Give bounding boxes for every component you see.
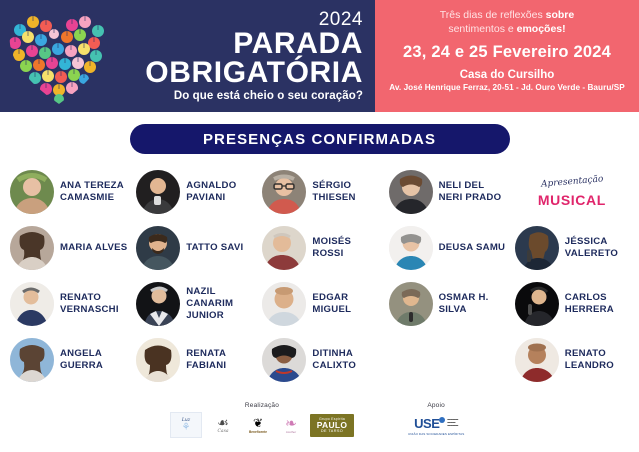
- poster-header: 2024 PARADA OBRIGATÓRIA Do que está chei…: [0, 0, 639, 112]
- promo-line1-bold: sobre: [546, 9, 575, 21]
- speaker-name: DITINHA CALIXTO: [312, 348, 382, 371]
- beneficente-logo-text: Beneficente: [249, 430, 267, 434]
- avatar: [10, 338, 54, 382]
- speaker-name: DEUSA SAMU: [439, 242, 506, 254]
- speaker-card[interactable]: ANA TEREZA CAMASMIE: [4, 164, 130, 220]
- speaker-name: EDGAR MIGUEL: [312, 292, 382, 315]
- avatar: [262, 338, 306, 382]
- casa-joao-logo-text: Casa: [217, 429, 228, 434]
- title-line-2: OBRIGATÓRIA: [118, 59, 363, 88]
- beneficente-logo: ❦ Beneficente: [244, 412, 272, 438]
- header-left-navy: 2024 PARADA OBRIGATÓRIA Do que está chei…: [0, 0, 375, 112]
- speaker-card[interactable]: NAZIL CANARIM JUNIOR: [130, 276, 256, 332]
- avatar: [515, 226, 559, 270]
- use-line-3: ▬▬▬▬: [447, 425, 458, 428]
- casa-joao-icon: ☙: [217, 416, 229, 429]
- title-block: 2024 PARADA OBRIGATÓRIA Do que está chei…: [118, 10, 375, 102]
- realizacao-logos: Luz ⚘ ☙ Casa ❦ Beneficente: [170, 412, 354, 438]
- musical-label: MUSICAL: [538, 192, 606, 208]
- avatar: [10, 170, 54, 214]
- avatar: [262, 170, 306, 214]
- speaker-name: RENATA FABIANI: [186, 348, 256, 371]
- musical-script-label: Apresentação: [540, 174, 603, 189]
- event-dates: 23, 24 e 25 Fevereiro 2024: [403, 43, 611, 62]
- speaker-name: RENATO VERNASCHI: [60, 292, 130, 315]
- casa-joao-logo: ☙ Casa: [208, 412, 238, 438]
- apoio-label: Apoio: [408, 402, 464, 409]
- speaker-card[interactable]: EDGAR MIGUEL: [256, 276, 382, 332]
- paulo-de-tarso-logo: Grupo Espírita PAULO DE TARSO: [310, 412, 354, 438]
- speakers-grid: ANA TEREZA CAMASMIE AGNALDO PAVIANI SÉRG…: [4, 164, 635, 388]
- speaker-name: MARIA ALVES: [60, 242, 127, 254]
- speaker-card[interactable]: RENATO VERNASCHI: [4, 276, 130, 332]
- speaker-name: ANA TEREZA CAMASMIE: [60, 180, 130, 203]
- speaker-card[interactable]: MOISÉS ROSSI: [256, 220, 382, 276]
- paulo-logo-bottom: DE TARSO: [321, 429, 343, 433]
- acolher-logo-text: Acolher: [286, 430, 296, 434]
- avatar: [10, 226, 54, 270]
- page-title: PARADA OBRIGATÓRIA: [118, 30, 363, 87]
- acolher-logo: ❧ Acolher: [278, 412, 304, 438]
- avatar: [136, 282, 180, 326]
- speaker-name: ANGELA GUERRA: [60, 348, 130, 371]
- apoio-group: Apoio USE ▬▬▬▬ ▬▬▬ ▬▬▬▬ UNIÃO DAS SOCIED…: [408, 402, 464, 436]
- promo-line2-plain: sentimentos e: [448, 23, 516, 35]
- speaker-name: NELI DEL NERI PRADO: [439, 180, 509, 203]
- event-poster: 2024 PARADA OBRIGATÓRIA Do que está chei…: [0, 0, 639, 452]
- hands-heart-icon: [0, 0, 118, 112]
- musical-presentation: Apresentação MUSICAL: [509, 164, 635, 220]
- promo-line1-plain: Três dias de reflexões: [440, 9, 546, 21]
- header-right-pink: Três dias de reflexões sobre sentimentos…: [375, 0, 639, 112]
- paulo-logo-mid: PAULO: [317, 421, 348, 430]
- speaker-name: NAZIL CANARIM JUNIOR: [186, 286, 256, 321]
- speaker-name: OSMAR H. SILVA: [439, 292, 509, 315]
- avatar: [136, 226, 180, 270]
- luz-hands-icon: ⚘: [182, 423, 191, 433]
- speaker-card[interactable]: CARLOS HERRERA: [509, 276, 635, 332]
- speaker-name: MOISÉS ROSSI: [312, 236, 382, 259]
- avatar: [262, 226, 306, 270]
- use-logo-mark: USE: [414, 416, 439, 431]
- speaker-card[interactable]: JÉSSICA VALERETO: [509, 220, 635, 276]
- avatar: [389, 226, 433, 270]
- avatar: [515, 282, 559, 326]
- speaker-card[interactable]: NELI DEL NERI PRADO: [383, 164, 509, 220]
- acolher-icon: ❧: [285, 416, 297, 430]
- speaker-name: RENATO LEANDRO: [565, 348, 635, 371]
- speaker-name: AGNALDO PAVIANI: [186, 180, 256, 203]
- avatar: [262, 282, 306, 326]
- speaker-card[interactable]: DITINHA CALIXTO: [256, 332, 382, 388]
- avatar: [515, 338, 559, 382]
- avatar: [389, 170, 433, 214]
- paulo-logo-top: Grupo Espírita: [319, 417, 345, 421]
- promo-line2-bold: emoções!: [517, 23, 566, 35]
- beneficente-icon: ❦: [253, 417, 263, 429]
- speaker-name: TATTO SAVI: [186, 242, 243, 254]
- speaker-card[interactable]: TATTO SAVI: [130, 220, 256, 276]
- speaker-name: SÉRGIO THIESEN: [312, 180, 382, 203]
- speaker-card[interactable]: DEUSA SAMU: [383, 220, 509, 276]
- avatar: [136, 170, 180, 214]
- speaker-card[interactable]: SÉRGIO THIESEN: [256, 164, 382, 220]
- event-venue: Casa do Cursilho: [460, 69, 555, 81]
- banner-row: PRESENÇAS CONFIRMADAS: [0, 124, 639, 154]
- speaker-card[interactable]: RENATO LEANDRO: [509, 332, 635, 388]
- speaker-card[interactable]: ANGELA GUERRA: [4, 332, 130, 388]
- speaker-name: JÉSSICA VALERETO: [565, 236, 635, 259]
- event-address: Av. José Henrique Ferraz, 20-51 - Jd. Ou…: [389, 83, 624, 92]
- avatar: [10, 282, 54, 326]
- use-logo-lines: ▬▬▬▬ ▬▬▬ ▬▬▬▬: [447, 419, 458, 427]
- speaker-card[interactable]: OSMAR H. SILVA: [383, 276, 509, 332]
- avatar: [389, 282, 433, 326]
- poster-footer: Realização Luz ⚘ ☙ Casa ❦: [0, 400, 639, 452]
- avatar: [136, 338, 180, 382]
- realizacao-group: Realização Luz ⚘ ☙ Casa ❦: [170, 402, 354, 438]
- speaker-card[interactable]: MARIA ALVES: [4, 220, 130, 276]
- use-logo: USE ▬▬▬▬ ▬▬▬ ▬▬▬▬: [414, 416, 458, 431]
- promo-text: Três dias de reflexões sobre sentimentos…: [440, 8, 574, 36]
- use-logo-subtitle: UNIÃO DAS SOCIEDADES ESPÍRITAS: [408, 432, 464, 436]
- use-logo-dot-icon: [439, 417, 445, 423]
- speaker-card[interactable]: AGNALDO PAVIANI: [130, 164, 256, 220]
- confirmed-guests-banner: PRESENÇAS CONFIRMADAS: [130, 124, 510, 154]
- realizacao-label: Realização: [170, 402, 354, 409]
- speaker-name: CARLOS HERRERA: [565, 292, 635, 315]
- event-tagline: Do que está cheio o seu coração?: [118, 90, 363, 102]
- luz-logo: Luz ⚘: [170, 412, 202, 438]
- speaker-card[interactable]: RENATA FABIANI: [130, 332, 256, 388]
